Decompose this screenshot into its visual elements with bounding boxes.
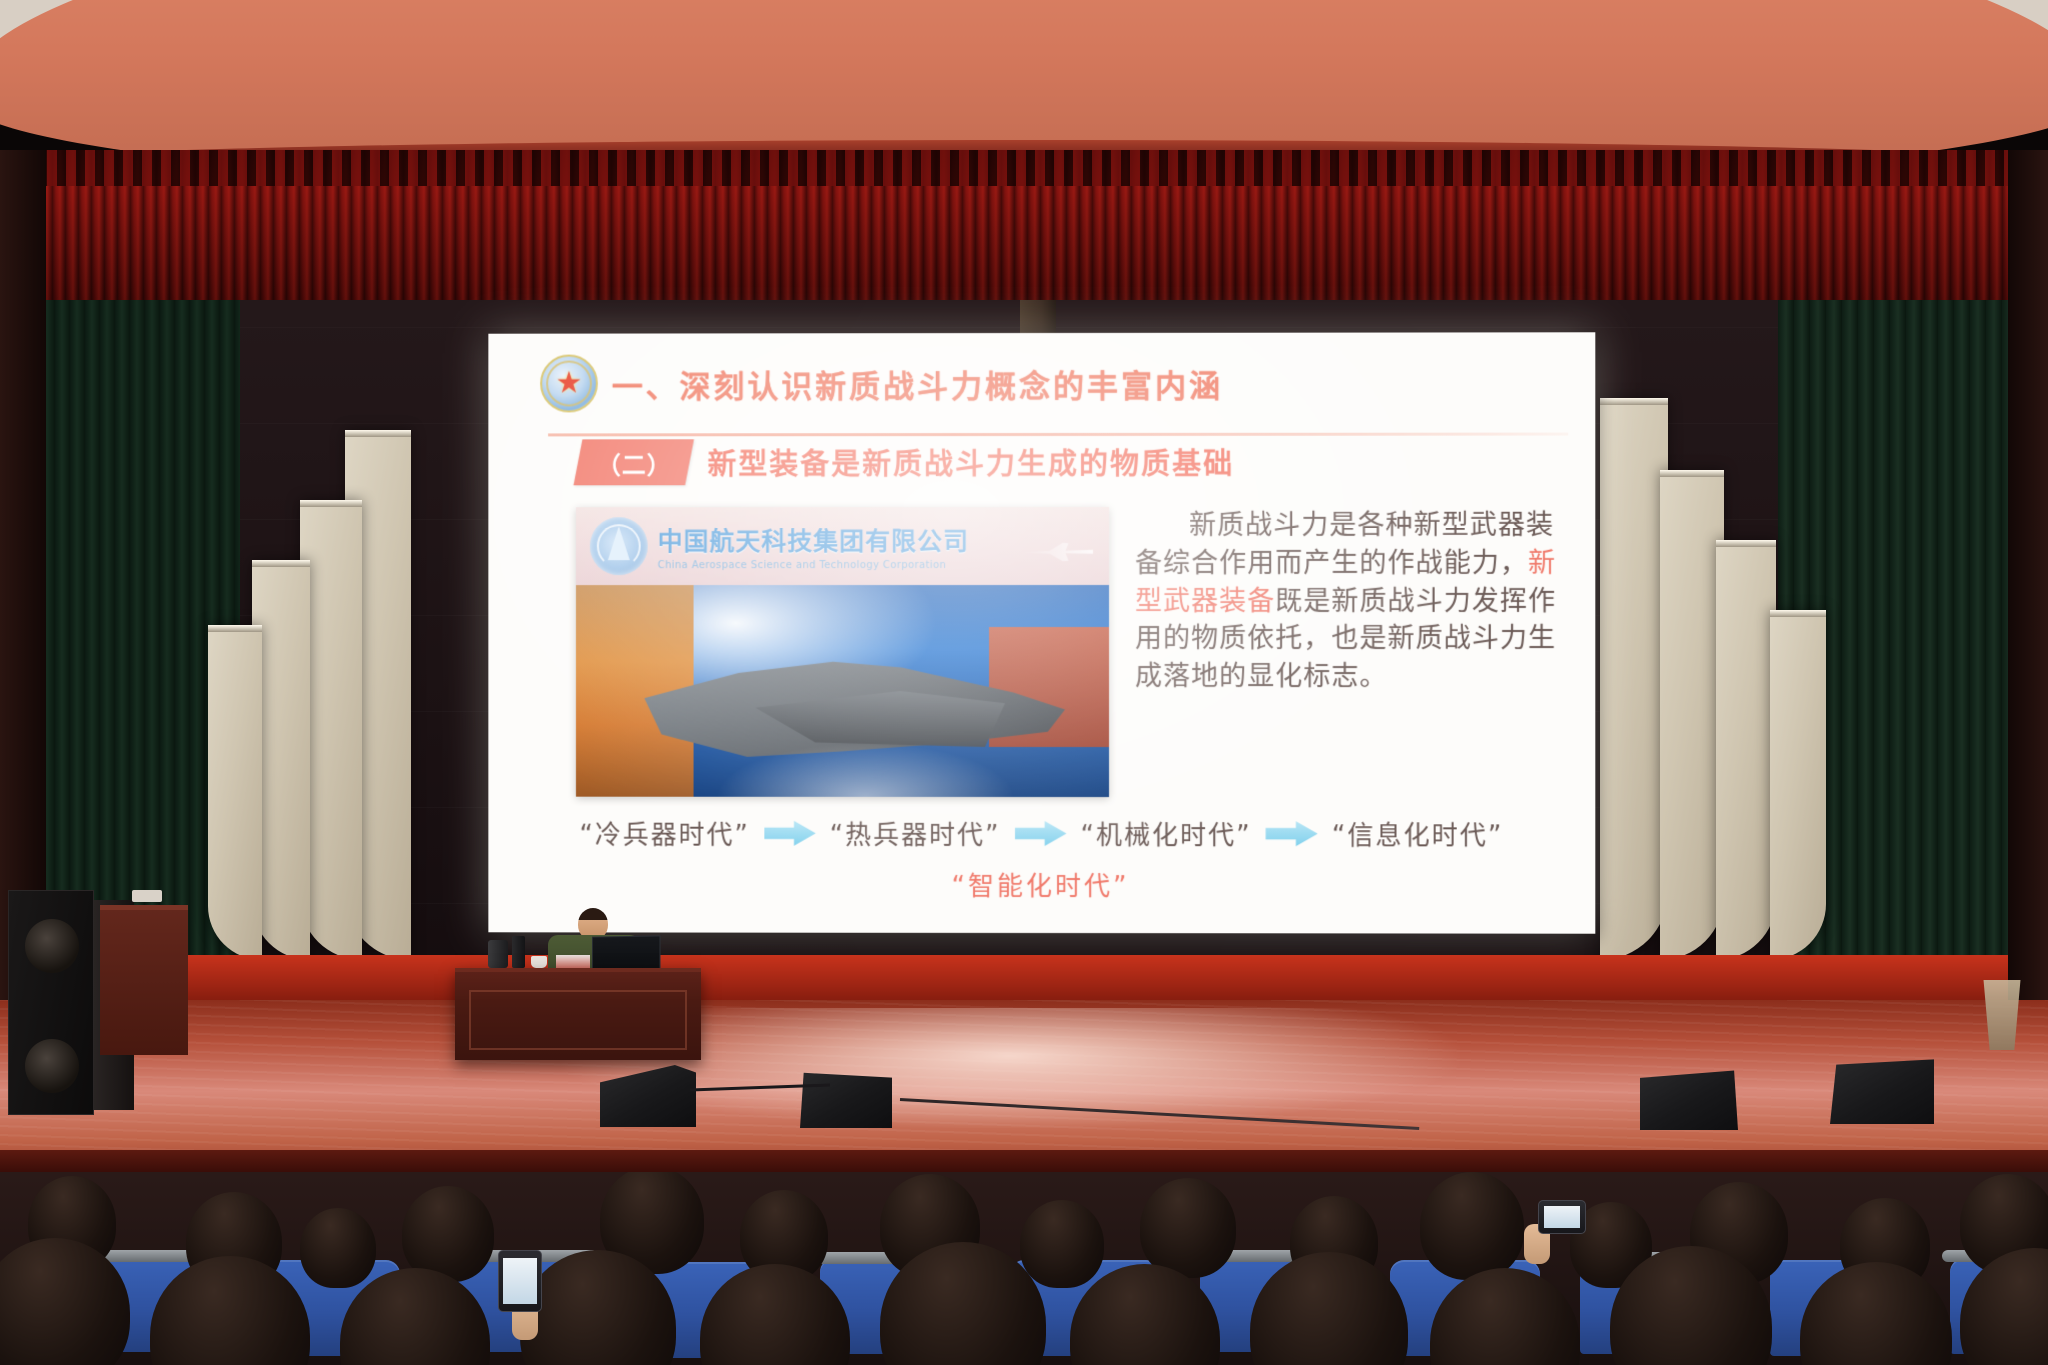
slide-section-row: （二） 新型装备是新质战斗力生成的物质基础 xyxy=(578,439,1569,486)
banner-english-text: China Aerospace Science and Technology C… xyxy=(658,560,969,571)
laptop xyxy=(592,935,661,970)
presentation-slide: ★ 一、深刻认识新质战斗力概念的丰富内涵 （二） 新型装备是新质战斗力生成的物质… xyxy=(488,332,1595,933)
audience-area xyxy=(0,1172,2048,1365)
era-label-intelligent: “智能化时代” xyxy=(514,865,1569,903)
era-label-cold-weapon: “冷兵器时代” xyxy=(580,815,750,852)
slide-header: ★ 一、深刻认识新质战斗力概念的丰富内涵 xyxy=(514,346,1569,419)
thermos xyxy=(512,936,525,968)
era-label-informatized: “信息化时代” xyxy=(1332,815,1504,852)
audience-head xyxy=(300,1208,376,1288)
airplane-icon xyxy=(1021,541,1093,563)
section-heading: 新型装备是新质战斗力生成的物质基础 xyxy=(708,441,1235,483)
section-number-badge: （二） xyxy=(574,439,695,485)
curtain-scallop-trim xyxy=(0,150,2048,186)
lectern xyxy=(100,905,188,1055)
acoustic-fin-right-2 xyxy=(1660,470,1724,960)
presenter-desk xyxy=(455,968,701,1060)
slide-body: 中国航天科技集团有限公司 China Aerospace Science and… xyxy=(576,507,1569,798)
stage-monitor-wedge-3 xyxy=(1640,1068,1738,1130)
slide-title: 一、深刻认识新质战斗力概念的丰富内涵 xyxy=(612,360,1223,406)
era-label-mechanized: “机械化时代” xyxy=(1081,815,1252,852)
banner-chinese-text: 中国航天科技集团有限公司 xyxy=(658,522,969,558)
kettle xyxy=(488,940,508,968)
arrow-right-icon xyxy=(764,820,816,846)
stage-front-edge xyxy=(0,1150,2048,1172)
speaker-driver-lower xyxy=(25,1039,79,1093)
audience-head xyxy=(1420,1172,1524,1280)
era-label-hot-weapon: “热兵器时代” xyxy=(830,815,1001,852)
acoustic-fin-right-1 xyxy=(1600,398,1668,960)
acoustic-fin-left-4 xyxy=(208,625,262,960)
arrow-right-icon xyxy=(1015,820,1067,846)
audience-head xyxy=(1020,1200,1104,1288)
nameplate xyxy=(556,955,590,968)
body-text-part-1: 新质战斗力是各种新型武器装备综合作用而产生的作战能力， xyxy=(1135,510,1554,579)
casc-logo-icon xyxy=(590,517,648,575)
camera-display xyxy=(1544,1206,1580,1228)
corporate-banner: 中国航天科技集团有限公司 China Aerospace Science and… xyxy=(576,507,1109,585)
audience-head xyxy=(1140,1178,1236,1278)
acoustic-fin-right-3 xyxy=(1716,540,1776,960)
pla-emblem-icon: ★ xyxy=(540,355,598,413)
cup xyxy=(531,956,547,968)
smartphone-screen xyxy=(498,1250,542,1312)
auditorium-scene: ★ 一、深刻认识新质战斗力概念的丰富内涵 （二） 新型装备是新质战斗力生成的物质… xyxy=(0,0,2048,1365)
slide-body-text: 新质战斗力是各种新型武器装备综合作用而产生的作战能力，新型武器装备既是新质战斗力… xyxy=(1135,507,1569,798)
microphone-icon xyxy=(132,890,162,902)
floor-light-glow xyxy=(715,743,1015,797)
desk-front-panel xyxy=(469,990,687,1050)
exhibition-photo: 中国航天科技集团有限公司 China Aerospace Science and… xyxy=(576,507,1109,797)
exhibition-hall-scene xyxy=(576,585,1109,797)
acoustic-fin-right-4 xyxy=(1770,610,1826,960)
section-number-label: （二） xyxy=(596,445,671,480)
arrow-right-icon xyxy=(1266,821,1318,847)
speaker-driver-upper xyxy=(25,919,79,973)
title-underline xyxy=(548,433,1568,437)
camera-device xyxy=(1538,1200,1586,1234)
stage-monitor-wedge-2 xyxy=(800,1068,892,1128)
era-timeline: “冷兵器时代” “热兵器时代” “机械化时代” “信息化时代” xyxy=(514,815,1569,853)
stage-monitor-wedge-4 xyxy=(1830,1058,1934,1124)
projection-screen: ★ 一、深刻认识新质战斗力概念的丰富内涵 （二） 新型装备是新质战斗力生成的物质… xyxy=(488,332,1595,933)
pa-speaker-stack xyxy=(8,890,94,1115)
phone-display xyxy=(503,1258,537,1304)
